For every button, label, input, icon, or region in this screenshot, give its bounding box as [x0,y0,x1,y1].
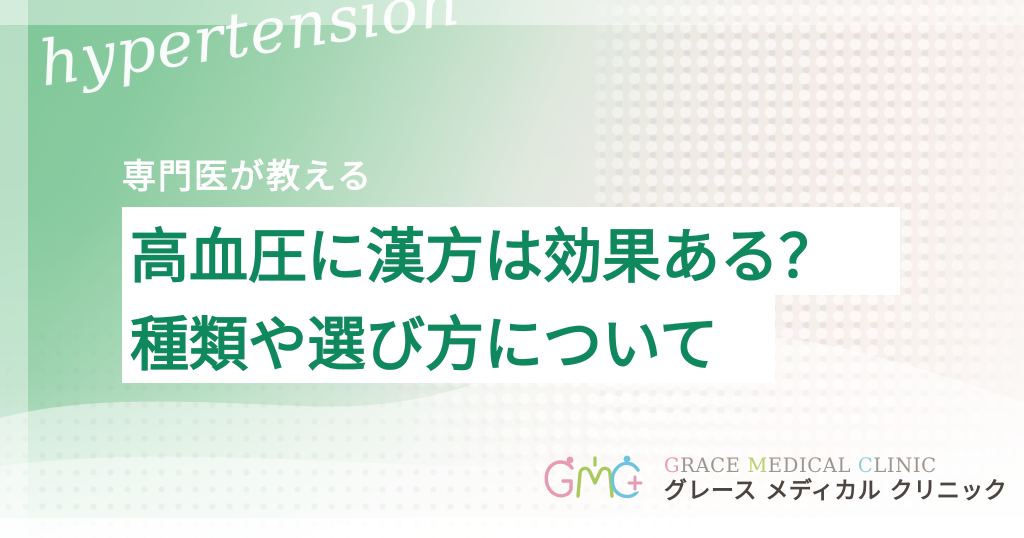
title-line-1: 高血圧に漢方は効果ある？ [122,207,900,295]
logo-en-m: M [747,454,768,477]
logo-en-edical: EDICAL [768,454,858,477]
bottom-edge-band [0,518,1024,538]
logo-en-c: C [858,454,874,477]
logo-japanese-name: グレース メディカル クリニック [664,477,1007,506]
logo-en-linic: LINIC [873,454,936,477]
left-edge-band [0,0,28,538]
logo-en-race: RACE [680,454,747,477]
logo-en-g: G [664,454,680,477]
clinic-logo: GRACE MEDICAL CLINIC グレース メディカル クリニック [540,452,1007,510]
eyebrow-text: 専門医が教える [122,149,373,198]
title-line-2: 種類や選び方について [122,295,775,383]
blog-thumbnail-banner: hypertension 専門医が教える 高血圧に漢方は効果ある？ 種類や選び方… [0,0,1024,538]
logo-english-name: GRACE MEDICAL CLINIC [664,456,1007,476]
gmc-monogram-icon [540,452,650,510]
logo-text-block: GRACE MEDICAL CLINIC グレース メディカル クリニック [664,456,1007,505]
